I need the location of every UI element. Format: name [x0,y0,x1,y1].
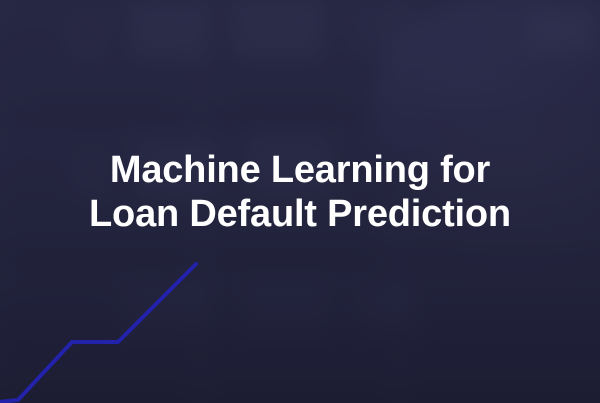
title-line-2: Loan Default Prediction [24,192,576,236]
title-line-1: Machine Learning for [24,148,576,192]
trend-line-path [0,264,196,403]
hero-banner: Machine Learning for Loan Default Predic… [0,0,600,403]
trend-line-graphic [0,233,260,403]
page-title: Machine Learning for Loan Default Predic… [24,148,576,237]
title-block: Machine Learning for Loan Default Predic… [0,148,600,237]
